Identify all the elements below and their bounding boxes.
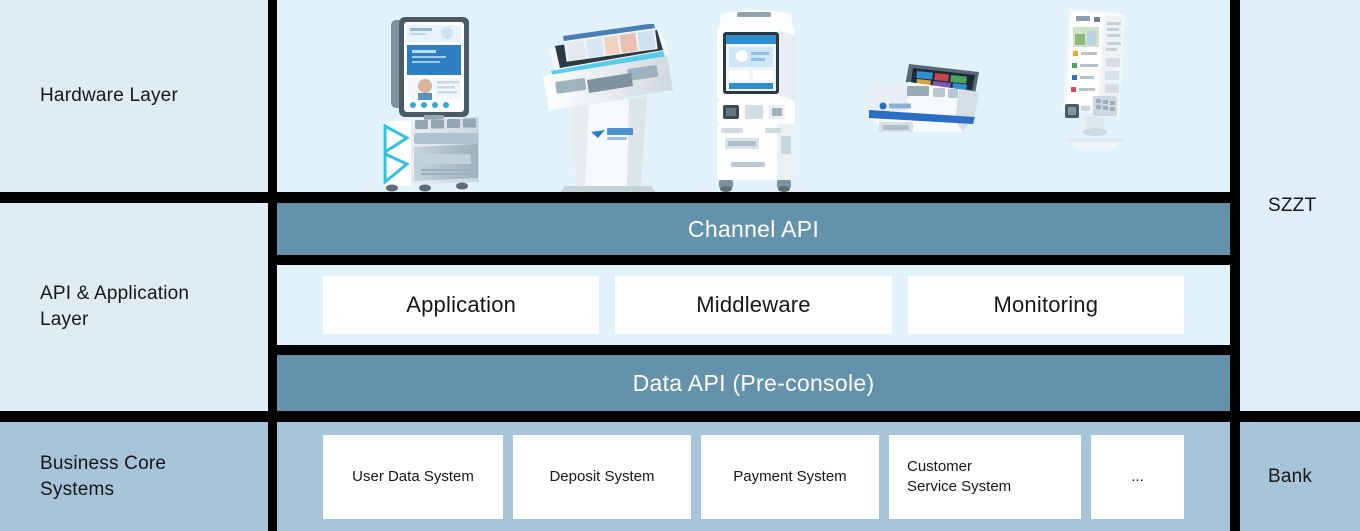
layer-label-hardware: Hardware Layer: [0, 0, 268, 192]
hardware-layer-devices: [277, 0, 1230, 192]
branch-teller-kiosk-icon: [535, 24, 675, 192]
owner-label-bank-text: Bank: [1268, 466, 1312, 488]
owner-label-szzt: SZZT: [1240, 0, 1360, 411]
application-layer-row: Application Middleware Monitoring: [277, 265, 1230, 345]
counter-top-terminal-icon: [863, 60, 983, 140]
sys-card-deposit-system-label: Deposit System: [549, 467, 654, 487]
app-card-monitoring-label: Monitoring: [993, 292, 1098, 318]
device-counter-top-terminal: [863, 60, 983, 140]
app-card-application[interactable]: Application: [323, 276, 599, 334]
layer-label-business-core: Business Core Systems: [0, 422, 268, 531]
vertical-display-kiosk-icon: [367, 14, 497, 192]
self-service-atm-kiosk-icon: [707, 6, 803, 192]
channel-api-label: Channel API: [688, 216, 819, 243]
app-card-monitoring[interactable]: Monitoring: [908, 276, 1184, 334]
app-card-middleware-label: Middleware: [696, 292, 811, 318]
layer-label-api-application: API & Application Layer: [0, 203, 268, 411]
data-api-bar[interactable]: Data API (Pre-console): [277, 355, 1230, 411]
sys-card-payment-system-label: Payment System: [733, 467, 846, 487]
owner-label-bank: Bank: [1240, 422, 1360, 531]
sys-card-deposit-system[interactable]: Deposit System: [513, 435, 691, 519]
owner-label-szzt-text: SZZT: [1268, 195, 1316, 217]
app-card-middleware[interactable]: Middleware: [615, 276, 891, 334]
channel-api-bar[interactable]: Channel API: [277, 203, 1230, 255]
sys-card-more[interactable]: ...: [1091, 435, 1184, 519]
layer-label-hardware-text: Hardware Layer: [40, 83, 178, 109]
sys-card-user-data-system[interactable]: User Data System: [323, 435, 503, 519]
layer-label-business-core-text: Business Core Systems: [40, 451, 166, 502]
sys-card-more-label: ...: [1131, 467, 1144, 487]
architecture-diagram: Hardware Layer API & Application Layer B…: [0, 0, 1360, 531]
layer-label-api-application-text: API & Application Layer: [40, 281, 189, 332]
business-core-row: User Data System Deposit System Payment …: [277, 422, 1230, 531]
sys-card-user-data-system-label: User Data System: [352, 467, 474, 487]
sys-card-customer-service-system[interactable]: Customer Service System: [889, 435, 1081, 519]
sys-card-payment-system[interactable]: Payment System: [701, 435, 879, 519]
device-self-service-atm-kiosk: [707, 6, 803, 192]
data-api-label: Data API (Pre-console): [633, 370, 875, 397]
app-card-application-label: Application: [406, 292, 516, 318]
device-desktop-tablet-terminal: [1051, 0, 1141, 152]
device-branch-teller-kiosk: [535, 24, 675, 192]
device-vertical-display-kiosk: [367, 14, 497, 192]
sys-card-customer-service-system-label: Customer Service System: [907, 457, 1011, 496]
desktop-tablet-terminal-icon: [1051, 0, 1141, 152]
